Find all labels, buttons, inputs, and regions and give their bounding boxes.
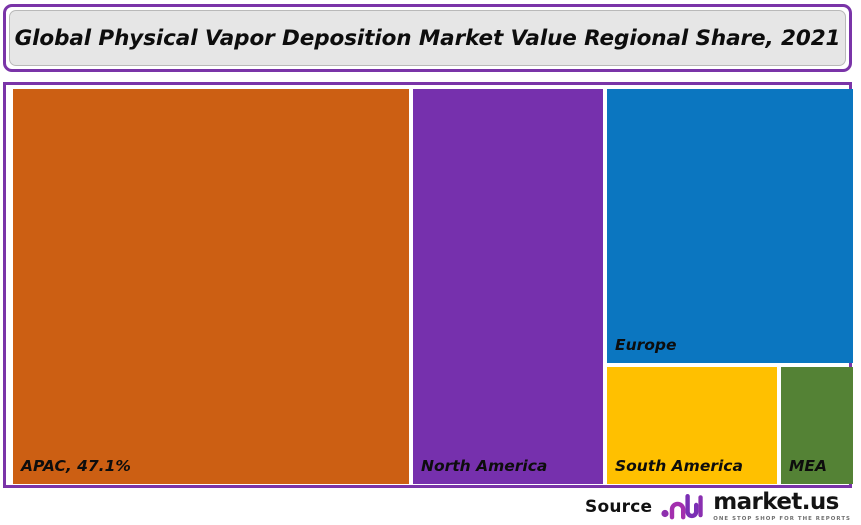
treemap-tile-label-apac: APAC, 47.1% xyxy=(21,457,131,475)
logo-tagline: ONE STOP SHOP FOR THE REPORTS xyxy=(713,516,851,522)
source-label: Source xyxy=(585,497,652,517)
chart-title-box: Global Physical Vapor Deposition Market … xyxy=(9,10,846,66)
treemap-tile-europe[interactable]: Europe xyxy=(607,89,853,363)
footer: Source market.us ONE STOP SHOP FOR THE R… xyxy=(0,488,861,525)
chart-title-frame: Global Physical Vapor Deposition Market … xyxy=(3,4,852,72)
logo-wordmark: market.us xyxy=(713,491,851,513)
treemap-tile-label-mea: MEA xyxy=(789,457,827,475)
treemap-tile-mea[interactable]: MEA xyxy=(781,367,853,484)
treemap-tile-label-south-america: South America xyxy=(615,457,743,475)
treemap-tile-label-north-america: North America xyxy=(421,457,547,475)
treemap-tile-south-america[interactable]: South America xyxy=(607,367,777,484)
logo-text-block: market.us ONE STOP SHOP FOR THE REPORTS xyxy=(713,491,851,521)
page-title: Global Physical Vapor Deposition Market … xyxy=(15,26,841,51)
chart-frame: APAC, 47.1% North America Europe South A… xyxy=(3,82,852,488)
treemap-tile-apac[interactable]: APAC, 47.1% xyxy=(13,89,409,484)
treemap-tile-label-europe: Europe xyxy=(615,336,677,354)
market-us-logo-icon xyxy=(661,493,707,520)
market-us-logo[interactable]: market.us ONE STOP SHOP FOR THE REPORTS xyxy=(661,491,851,521)
treemap-chart: APAC, 47.1% North America Europe South A… xyxy=(13,89,853,484)
treemap-tile-north-america[interactable]: North America xyxy=(413,89,603,484)
